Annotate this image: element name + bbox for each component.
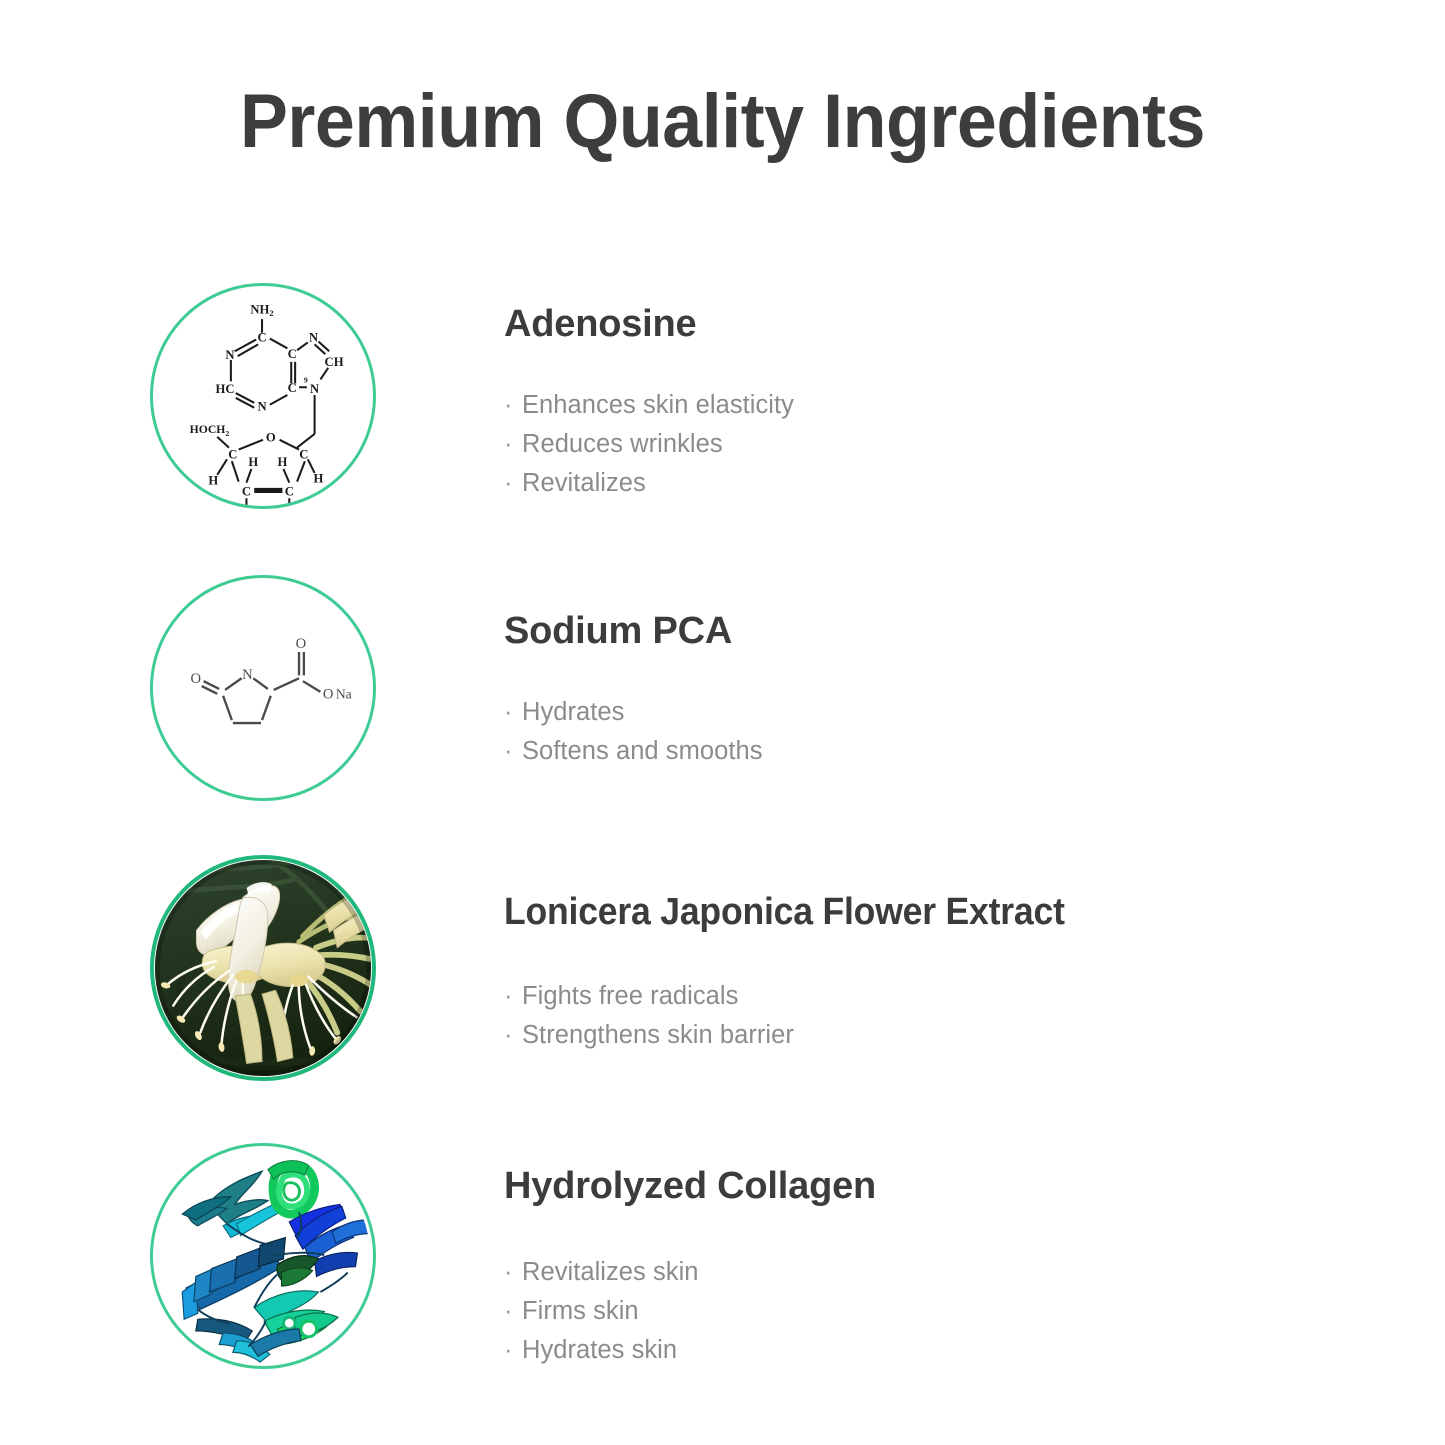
benefit-label: Fights free radicals [522,982,738,1010]
svg-text:C: C [288,381,297,395]
list-item: ·Revitalizes [504,464,794,503]
bullet-icon: · [504,1016,513,1055]
bullet-icon: · [504,693,513,732]
benefit-label: Hydrates skin [522,1336,677,1364]
list-item: ·Fights free radicals [504,977,1104,1016]
ingredient-name: Hydrolyzed Collagen [504,1167,876,1205]
bullet-icon: · [504,1253,513,1292]
list-item: ·Strengthens skin barrier [504,1016,1104,1055]
svg-text:HC: HC [216,382,235,396]
benefit-label: Revitalizes [522,469,646,497]
bullet-icon: · [504,464,513,503]
list-item: ·Firms skin [504,1292,876,1331]
svg-text:9: 9 [304,375,308,384]
list-item: ·Reduces wrinkles [504,425,794,464]
list-item: ·Hydrates skin [504,1331,876,1370]
benefit-list: ·Enhances skin elasticity ·Reduces wrink… [504,386,794,503]
bullet-icon: · [504,1331,513,1370]
svg-text:C: C [288,347,297,361]
svg-text:C: C [299,447,308,461]
benefit-label: Softens and smooths [522,737,763,765]
benefit-label: Reduces wrinkles [522,430,723,458]
collagen-protein-ribbon-icon [150,1143,376,1369]
benefit-label: Strengthens skin barrier [522,1021,794,1049]
svg-text:O: O [191,671,202,687]
svg-text:H: H [314,472,324,486]
bullet-icon: · [504,977,513,1016]
svg-text:Na: Na [336,687,352,702]
benefit-label: Enhances skin elasticity [522,391,794,419]
list-item: ·Enhances skin elasticity [504,386,794,425]
bullet-icon: · [504,732,513,771]
bullet-icon: · [504,425,513,464]
svg-text:N: N [225,348,234,362]
benefit-list: ·Hydrates ·Softens and smooths [504,693,763,771]
svg-text:N: N [257,400,266,414]
svg-text:C: C [242,484,251,498]
svg-text:N: N [242,667,253,683]
svg-text:C: C [228,447,237,461]
ingredients-infographic: Premium Quality Ingredients [0,0,1445,1445]
svg-text:C: C [257,330,266,344]
ingredient-name: Sodium PCA [504,612,763,650]
bullet-icon: · [504,1292,513,1331]
ingredient-text-block: Sodium PCA ·Hydrates ·Softens and smooth… [504,612,763,771]
benefit-label: Hydrates [522,698,624,726]
page-title: Premium Quality Ingredients [40,78,1406,165]
svg-text:H: H [208,474,218,488]
ingredient-name: Lonicera Japonica Flower Extract [504,893,1065,931]
list-item: ·Revitalizes skin [504,1253,876,1292]
svg-text:O: O [323,687,334,703]
benefit-list: ·Revitalizes skin ·Firms skin ·Hydrates … [504,1253,876,1370]
honeysuckle-flower-photo-icon [150,855,376,1081]
bullet-icon: · [504,386,513,425]
svg-text:C: C [285,484,294,498]
ingredient-text-block: Lonicera Japonica Flower Extract ·Fights… [504,893,1104,1055]
ingredient-text-block: Hydrolyzed Collagen ·Revitalizes skin ·F… [504,1167,876,1370]
svg-text:CH: CH [325,355,344,369]
list-item: ·Hydrates [504,693,763,732]
adenosine-molecule-icon: NH2 C N HC N C C N CH N 9 [150,283,376,509]
svg-text:N: N [309,330,318,344]
sodium-pca-molecule-icon: N O O O Na [150,575,376,801]
ingredient-name: Adenosine [504,305,794,343]
svg-text:H: H [248,455,258,469]
svg-text:HOCH2: HOCH2 [190,423,230,438]
svg-text:N: N [310,382,319,396]
benefit-label: Revitalizes skin [522,1258,699,1286]
svg-text:NH2: NH2 [250,302,273,318]
ingredient-text-block: Adenosine ·Enhances skin elasticity ·Red… [504,305,794,503]
svg-text:H: H [278,455,288,469]
benefit-label: Firms skin [522,1297,639,1325]
svg-text:O: O [266,431,276,445]
list-item: ·Softens and smooths [504,732,763,771]
benefit-list: ·Fights free radicals ·Strengthens skin … [504,977,1104,1055]
svg-text:O: O [296,636,307,652]
